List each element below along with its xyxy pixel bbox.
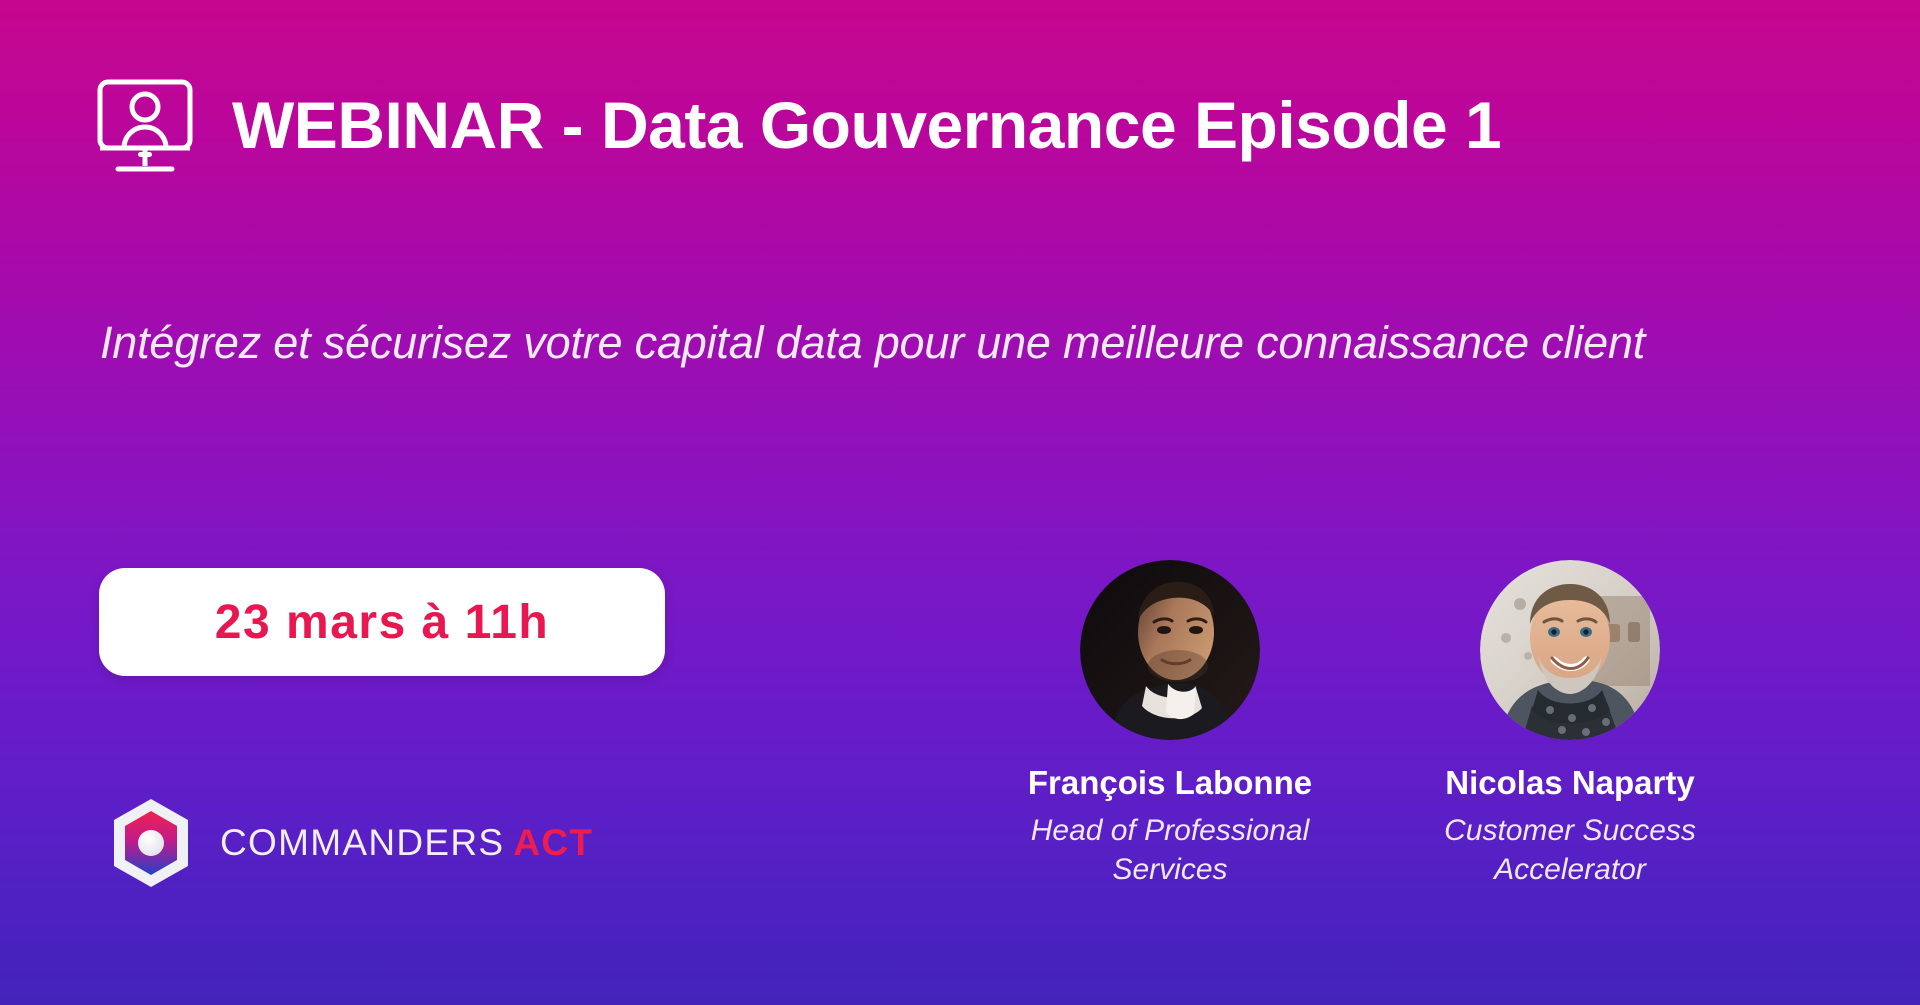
header: WEBINAR - Data Gouvernance Episode 1 <box>96 78 1501 174</box>
speaker-card: Nicolas Naparty Customer Success Acceler… <box>1420 560 1720 889</box>
brand-logo-text: COMMANDERSACT <box>220 822 593 864</box>
speaker-photo-nicolas-naparty <box>1480 560 1660 740</box>
date-badge-label: 23 mars à 11h <box>215 595 549 650</box>
brand-name-accent: ACT <box>513 822 593 863</box>
webinar-banner: WEBINAR - Data Gouvernance Episode 1 Int… <box>0 0 1920 1005</box>
speaker-role: Head of Professional Services <box>1025 811 1315 889</box>
page-title: WEBINAR - Data Gouvernance Episode 1 <box>232 91 1501 160</box>
speaker-name: François Labonne <box>1028 763 1312 803</box>
speaker-role: Customer Success Accelerator <box>1425 811 1715 889</box>
hexagon-logo-icon <box>110 798 192 888</box>
speakers-list: François Labonne Head of Professional Se… <box>1020 560 1820 889</box>
speaker-name: Nicolas Naparty <box>1445 763 1694 803</box>
speaker-photo-francois-labonne <box>1080 560 1260 740</box>
speaker-card: François Labonne Head of Professional Se… <box>1020 560 1320 889</box>
brand-logo[interactable]: COMMANDERSACT <box>110 798 593 888</box>
webinar-monitor-person-icon <box>96 78 194 174</box>
brand-name-primary: COMMANDERS <box>220 822 504 863</box>
date-badge[interactable]: 23 mars à 11h <box>99 568 665 676</box>
subtitle: Intégrez et sécurisez votre capital data… <box>100 310 1660 375</box>
